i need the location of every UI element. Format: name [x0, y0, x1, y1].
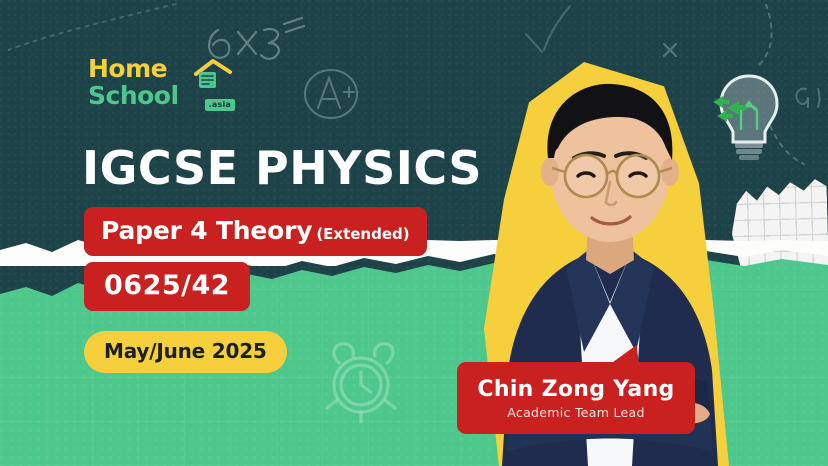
thumbnail-canvas: Home School .asia IGCSE PHYSICS Paper 4 … [0, 0, 828, 466]
lightbulb-sticker-icon [713, 72, 785, 164]
paper-code-badge: 0625/42 [84, 262, 250, 311]
paper-qualifier: (Extended) [316, 225, 409, 243]
logo-tld-badge: .asia [205, 99, 235, 111]
house-book-icon [192, 58, 232, 92]
paper-badge: Paper 4 Theory(Extended) [84, 207, 427, 256]
presenter-name: Chin Zong Yang [477, 377, 674, 402]
alarm-clock-doodle [315, 330, 407, 431]
brand-logo[interactable]: Home School .asia [88, 56, 223, 112]
session-badge: May/June 2025 [84, 331, 287, 373]
presenter-nameplate: Chin Zong Yang Academic Team Lead [457, 362, 695, 434]
page-title: IGCSE PHYSICS [82, 143, 482, 193]
paper-label: Paper 4 Theory [101, 216, 312, 245]
presenter-role: Academic Team Lead [507, 405, 644, 420]
